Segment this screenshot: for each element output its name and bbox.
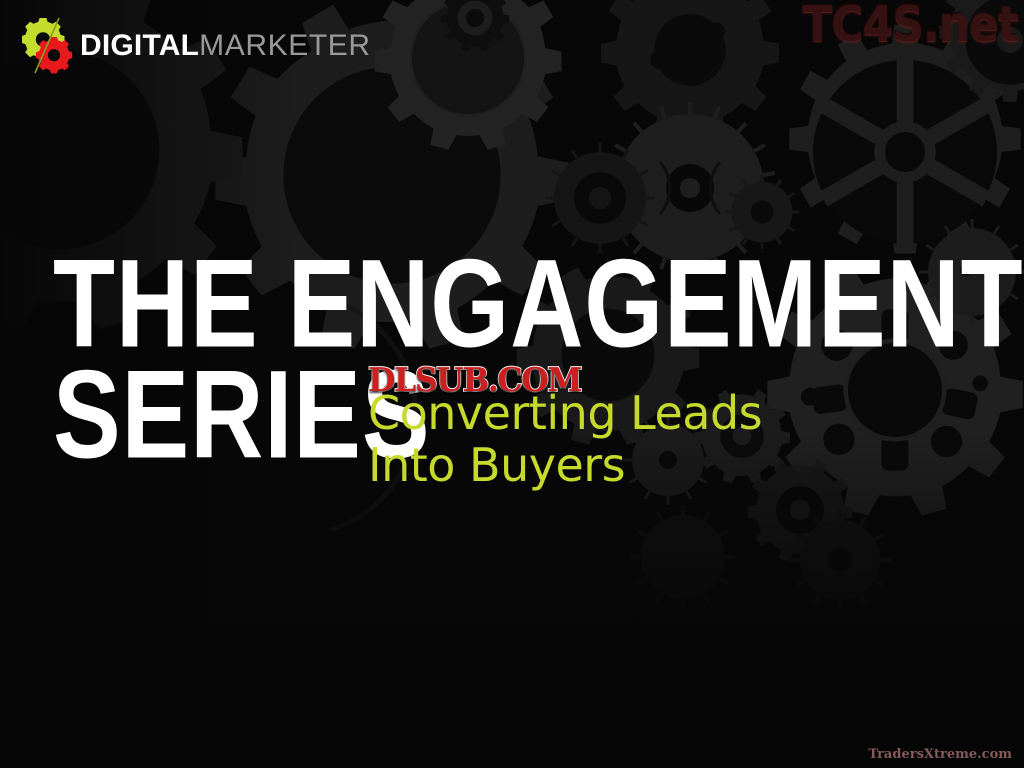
logo-word-digital: DIGITAL — [80, 29, 199, 62]
tradersxtreme-watermark: TradersXtreme.com — [868, 747, 1012, 762]
slide-subtitle: Converting Leads Into Buyers — [368, 388, 808, 491]
digitalmarketer-logo[interactable]: DIGITALMARKETER — [22, 12, 371, 80]
presentation-slide: DIGITALMARKETER TC4S.net THE ENGAGEMENT … — [0, 0, 1024, 768]
two-interlocking-gears-logo-icon — [22, 17, 78, 75]
subtitle-line-2: Into Buyers — [368, 440, 808, 492]
logo-wordmark: DIGITALMARKETER — [80, 31, 371, 61]
logo-word-marketer: MARKETER — [199, 29, 371, 62]
dlsub-watermark: DLSUB.COM — [368, 360, 581, 399]
tc4s-watermark: TC4S.net — [802, 0, 1018, 53]
